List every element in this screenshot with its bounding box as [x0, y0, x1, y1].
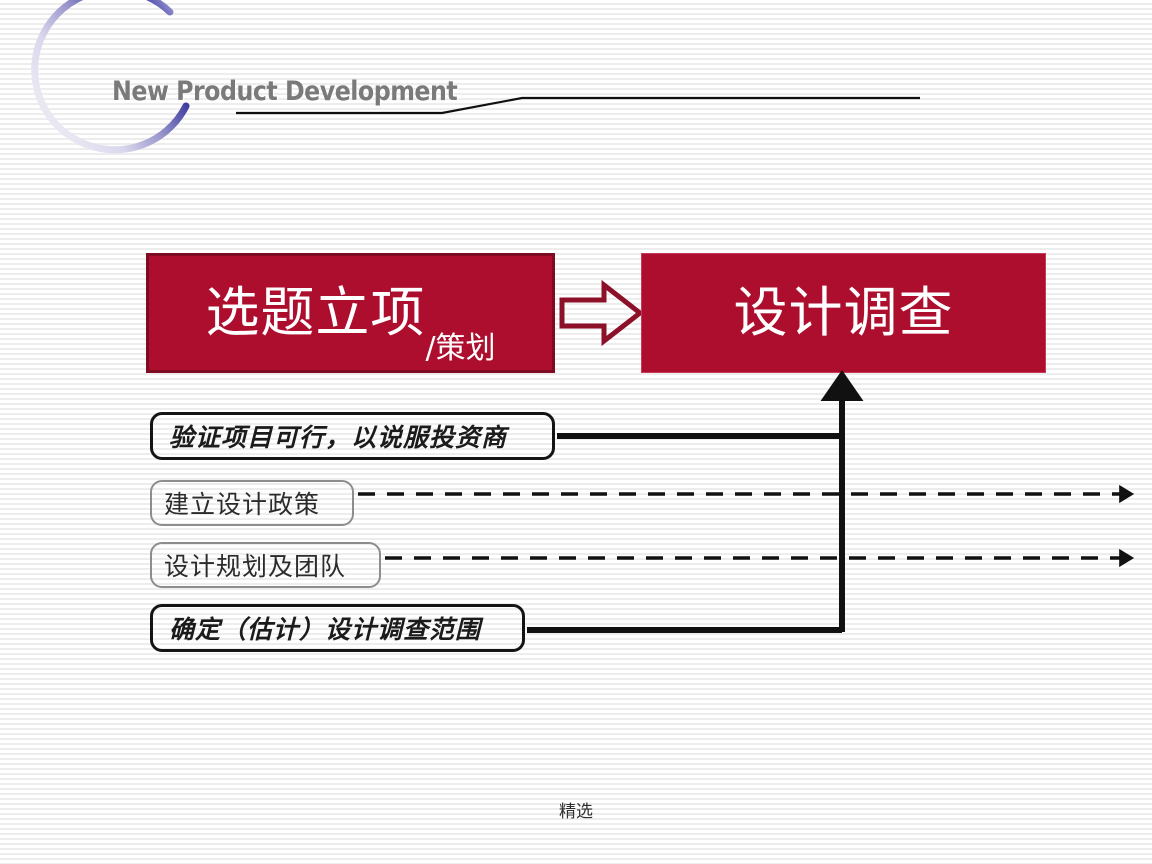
page-title: New Product Development — [112, 76, 457, 107]
item-box-1-label: 验证项目可行，以说服投资商 — [169, 418, 507, 454]
stage-box-1-sub-label: /策划 — [425, 334, 495, 370]
item-box-validate-feasibility[interactable]: 验证项目可行，以说服投资商 — [150, 412, 555, 460]
item-box-design-plan-team[interactable]: 设计规划及团队 — [150, 542, 381, 588]
footer-label: 精选 — [0, 797, 1152, 822]
stage-box-topic-planning[interactable]: 选题立项 /策划 — [146, 253, 555, 373]
stage-box-1-main-label: 选题立项 — [205, 286, 425, 340]
item-box-3-label: 设计规划及团队 — [164, 547, 346, 583]
slide-canvas: New Product Development 选题立项 /策划 设计调查 — [0, 0, 1152, 864]
item-box-design-policy[interactable]: 建立设计政策 — [150, 480, 354, 526]
stage-box-2-main-label: 设计调查 — [734, 286, 954, 340]
item-box-2-label: 建立设计政策 — [164, 485, 320, 521]
item-box-4-label: 确定（估计）设计调查范围 — [169, 610, 481, 646]
flow-arrow-right-icon — [558, 280, 644, 346]
stage-box-design-research[interactable]: 设计调查 — [641, 253, 1046, 373]
item-box-research-scope[interactable]: 确定（估计）设计调查范围 — [150, 604, 525, 652]
